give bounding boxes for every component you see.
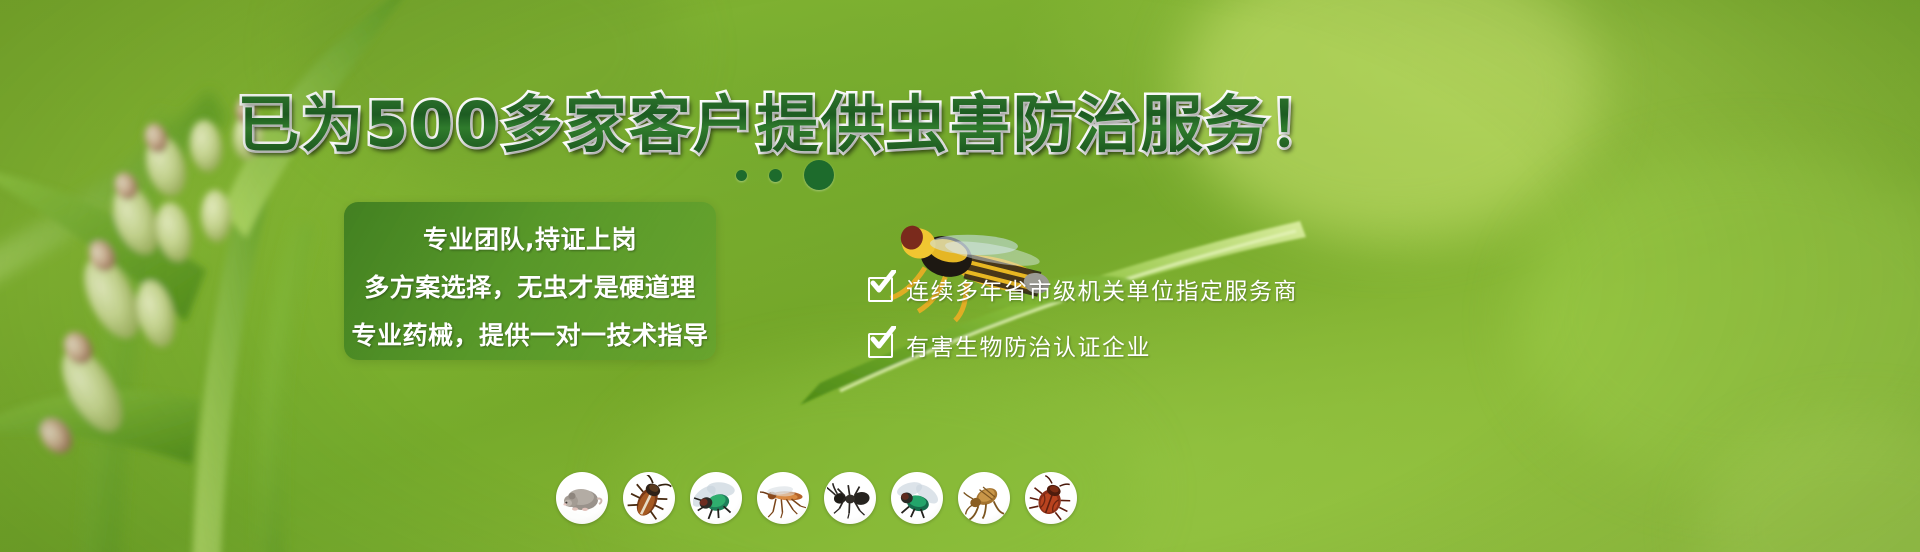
bokeh-blob — [1520, 150, 1920, 490]
certification-label: 有害生物防治认证企业 — [906, 328, 1151, 362]
feature-line-2: 多方案选择，无虫才是硬道理 — [344, 268, 716, 304]
dot-small-icon — [736, 170, 747, 181]
dot-ornaments — [0, 160, 1570, 190]
list-item: 有害生物防治认证企业 — [868, 328, 1428, 362]
rat-icon[interactable] — [556, 472, 608, 524]
certification-label: 连续多年省市级机关单位指定服务商 — [906, 272, 1298, 306]
page-title: 已为500多家客户提供虫害防治服务！ — [0, 74, 1570, 164]
cockroach-icon[interactable] — [623, 472, 675, 524]
flea-icon[interactable] — [958, 472, 1010, 524]
list-item: 连续多年省市级机关单位指定服务商 — [868, 272, 1428, 306]
certification-list: 连续多年省市级机关单位指定服务商 有害生物防治认证企业 — [868, 272, 1428, 384]
pest-icon-row — [556, 472, 1077, 524]
greenfly-icon[interactable] — [891, 472, 943, 524]
feature-line-3: 专业药械，提供一对一技术指导 — [344, 316, 716, 352]
feature-line-1: 专业团队,持证上岗 — [344, 220, 716, 256]
ant-icon[interactable] — [824, 472, 876, 524]
checkbox-checked-icon — [868, 277, 893, 302]
bokeh-blob — [1700, 420, 1920, 552]
dot-medium-icon — [769, 169, 782, 182]
dot-large-icon — [804, 160, 834, 190]
bedbug-icon[interactable] — [1025, 472, 1077, 524]
blowfly-icon[interactable] — [690, 472, 742, 524]
mosquito-icon[interactable] — [757, 472, 809, 524]
promo-banner: 已为500多家客户提供虫害防治服务！ 已为500多家客户提供虫害防治服务！ 专业… — [0, 0, 1920, 552]
feature-panel: 专业团队,持证上岗 多方案选择，无虫才是硬道理 专业药械，提供一对一技术指导 — [344, 202, 716, 360]
checkbox-checked-icon — [868, 333, 893, 358]
